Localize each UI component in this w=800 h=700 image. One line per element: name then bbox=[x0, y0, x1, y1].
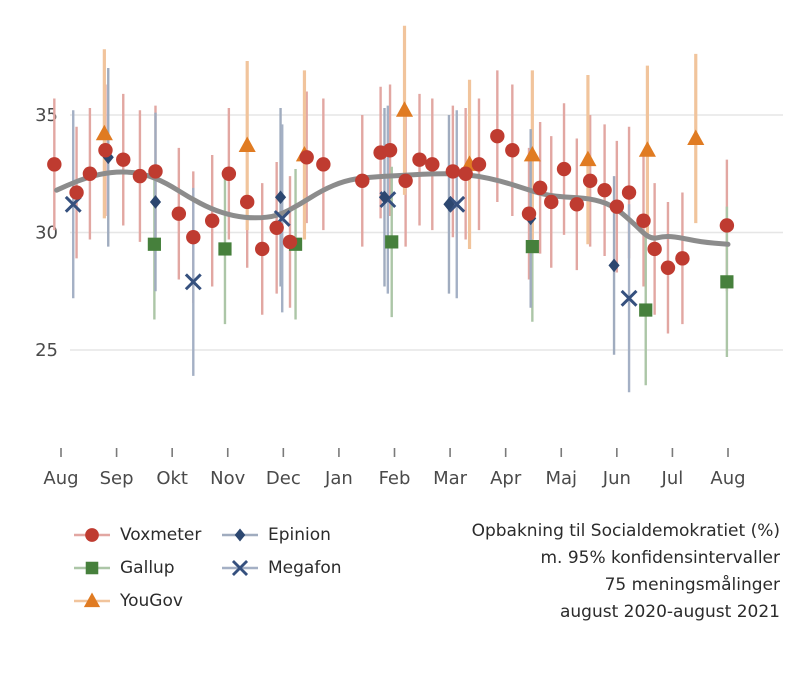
legend-row: Voxmeter Epinion bbox=[72, 518, 402, 551]
legend-item-epinion[interactable]: Epinion bbox=[220, 525, 368, 545]
legend-item-gallup[interactable]: Gallup bbox=[72, 558, 220, 578]
legend-row: YouGov bbox=[72, 584, 402, 617]
svg-text:Jul: Jul bbox=[661, 468, 684, 489]
caption-line-title: Opbakning til Socialdemokratiet (%) bbox=[472, 518, 780, 545]
svg-text:Okt: Okt bbox=[156, 468, 188, 489]
svg-text:Jan: Jan bbox=[324, 468, 353, 489]
legend-item-megafon[interactable]: Megafon bbox=[220, 558, 368, 578]
legend-item-yougov[interactable]: YouGov bbox=[72, 591, 220, 611]
svg-text:Sep: Sep bbox=[100, 468, 134, 489]
svg-text:Feb: Feb bbox=[379, 468, 411, 489]
chart-page: 253035AugSepOktNovDecJanFebMarAprMajJunJ… bbox=[0, 0, 800, 700]
svg-text:Aug: Aug bbox=[710, 468, 745, 489]
square-marker-icon bbox=[72, 558, 112, 578]
legend-label-megafon: Megafon bbox=[268, 558, 342, 578]
triangle-marker-icon bbox=[72, 591, 112, 611]
chart-legend: Voxmeter Epinion Gallup Megafon YouGov bbox=[72, 518, 402, 617]
svg-text:Mar: Mar bbox=[433, 468, 468, 489]
cross-marker-icon bbox=[220, 558, 260, 578]
legend-row: Gallup Megafon bbox=[72, 551, 402, 584]
svg-text:25: 25 bbox=[35, 340, 58, 361]
legend-label-yougov: YouGov bbox=[120, 591, 183, 611]
svg-text:Jun: Jun bbox=[602, 468, 631, 489]
caption-line-period: august 2020-august 2021 bbox=[472, 599, 780, 626]
caption-line-count: 75 meningsmålinger bbox=[472, 572, 780, 599]
svg-text:Nov: Nov bbox=[210, 468, 245, 489]
series-yougov bbox=[96, 101, 705, 171]
legend-label-gallup: Gallup bbox=[120, 558, 175, 578]
caption-line-confidence: m. 95% konfidensintervaller bbox=[472, 545, 780, 572]
x-axis: AugSepOktNovDecJanFebMarAprMajJunJulAug bbox=[43, 448, 745, 489]
legend-label-voxmeter: Voxmeter bbox=[120, 525, 201, 545]
circle-marker-icon bbox=[72, 525, 112, 545]
svg-text:Aug: Aug bbox=[43, 468, 78, 489]
confidence-interval-bars bbox=[54, 26, 727, 393]
svg-text:Maj: Maj bbox=[545, 468, 577, 489]
legend-label-epinion: Epinion bbox=[268, 525, 331, 545]
gridlines bbox=[70, 115, 783, 350]
chart-caption: Opbakning til Socialdemokratiet (%) m. 9… bbox=[472, 518, 780, 626]
svg-text:Apr: Apr bbox=[490, 468, 522, 489]
svg-text:Dec: Dec bbox=[266, 468, 301, 489]
legend-item-voxmeter[interactable]: Voxmeter bbox=[72, 525, 220, 545]
diamond-marker-icon bbox=[220, 525, 260, 545]
